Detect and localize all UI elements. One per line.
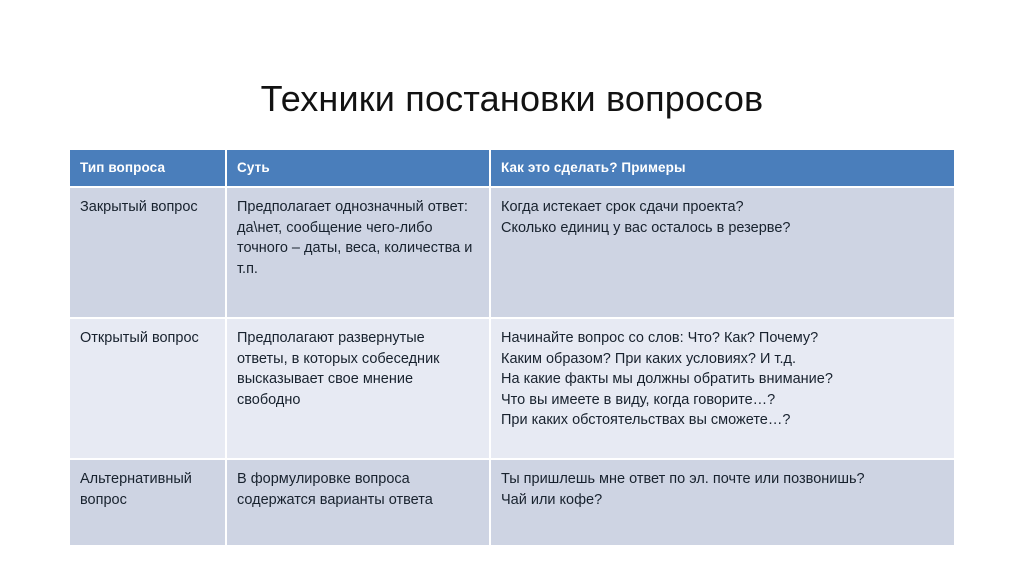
slide-canvas: Техники постановки вопросов Тип вопроса … — [0, 0, 1024, 574]
table-row: Альтернативный вопрос В формулировке воп… — [70, 460, 954, 545]
cell-how-to-examples: Начинайте вопрос со слов: Что? Как? Поче… — [491, 319, 954, 458]
question-techniques-table: Тип вопроса Суть Как это сделать? Пример… — [68, 148, 956, 547]
table-row: Открытый вопрос Предполагают развернутые… — [70, 319, 954, 458]
cell-how-to-examples: Когда истекает срок сдачи проекта? Сколь… — [491, 188, 954, 317]
column-header-essence: Суть — [227, 150, 489, 186]
cell-question-type: Закрытый вопрос — [70, 188, 225, 317]
example-line: При каких обстоятельствах вы сможете…? — [501, 410, 944, 431]
cell-essence: В формулировке вопроса содержатся вариан… — [227, 460, 489, 545]
example-line: Когда истекает срок сдачи проекта? — [501, 197, 944, 218]
example-line: Каким образом? При каких условиях? И т.д… — [501, 349, 944, 370]
table-header-row: Тип вопроса Суть Как это сделать? Пример… — [70, 150, 954, 186]
cell-question-type: Открытый вопрос — [70, 319, 225, 458]
table-body: Закрытый вопрос Предполагает однозначный… — [70, 188, 954, 545]
column-header-how-to-examples: Как это сделать? Примеры — [491, 150, 954, 186]
example-line: Что вы имеете в виду, когда говорите…? — [501, 390, 944, 411]
column-header-question-type: Тип вопроса — [70, 150, 225, 186]
question-techniques-table-wrapper: Тип вопроса Суть Как это сделать? Пример… — [68, 148, 954, 547]
example-line: Сколько единиц у вас осталось в резерве? — [501, 218, 944, 239]
table-row: Закрытый вопрос Предполагает однозначный… — [70, 188, 954, 317]
cell-question-type: Альтернативный вопрос — [70, 460, 225, 545]
example-line: На какие факты мы должны обратить вниман… — [501, 369, 944, 390]
cell-how-to-examples: Ты пришлешь мне ответ по эл. почте или п… — [491, 460, 954, 545]
table-header: Тип вопроса Суть Как это сделать? Пример… — [70, 150, 954, 186]
cell-essence: Предполагают развернутые ответы, в котор… — [227, 319, 489, 458]
cell-essence: Предполагает однозначный ответ: да\нет, … — [227, 188, 489, 317]
page-title: Техники постановки вопросов — [0, 78, 1024, 119]
example-line: Чай или кофе? — [501, 490, 944, 511]
example-line: Начинайте вопрос со слов: Что? Как? Поче… — [501, 328, 944, 349]
example-line: Ты пришлешь мне ответ по эл. почте или п… — [501, 469, 944, 490]
